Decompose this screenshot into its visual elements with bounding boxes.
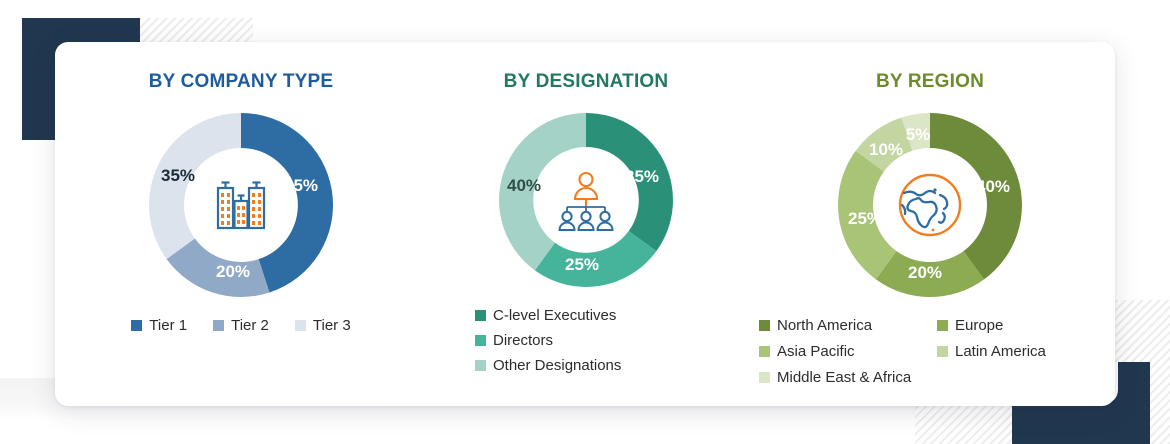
donut-label-middle-east-africa: 5%: [906, 125, 931, 144]
legend-item-directors[interactable]: Directors: [475, 332, 621, 349]
chart-panel-region: BY REGION 40% 20% 25%: [745, 42, 1115, 406]
charts-card: BY COMPANY TYPE 45% 20% 35%: [55, 42, 1115, 406]
chart-title-company-type: BY COMPANY TYPE: [149, 71, 334, 93]
org-hierarchy-people-icon: [554, 169, 618, 231]
office-buildings-icon: [210, 174, 272, 236]
legend-label-c-level: C-level Executives: [493, 307, 616, 324]
legend-item-tier-3[interactable]: Tier 3: [295, 317, 351, 334]
legend-label-middle-east-africa: Middle East & Africa: [777, 369, 911, 386]
donut-label-europe: 20%: [908, 263, 942, 282]
chart-title-region: BY REGION: [876, 71, 984, 93]
donut-chart-region: 40% 20% 25% 10% 5%: [830, 105, 1030, 305]
legend-item-tier-2[interactable]: Tier 2: [213, 317, 269, 334]
legend-swatch-europe: [937, 320, 948, 331]
donut-label-directors: 25%: [565, 255, 599, 274]
donut-label-tier-1: 45%: [284, 176, 318, 195]
legend-item-other-designations[interactable]: Other Designations: [475, 357, 621, 374]
donut-label-north-america: 40%: [976, 177, 1010, 196]
legend-swatch-tier-1: [131, 320, 142, 331]
legend-item-middle-east-africa[interactable]: Middle East & Africa: [759, 369, 937, 386]
legend-item-europe[interactable]: Europe: [937, 317, 1115, 334]
donut-label-asia-pacific: 25%: [848, 209, 882, 228]
legend-swatch-tier-2: [213, 320, 224, 331]
legend-label-europe: Europe: [955, 317, 1003, 334]
legend-label-tier-3: Tier 3: [313, 317, 351, 334]
donut-chart-designation: 35% 25% 40%: [491, 105, 681, 295]
legend-label-asia-pacific: Asia Pacific: [777, 343, 855, 360]
donut-label-tier-2: 20%: [216, 262, 250, 281]
legend-label-north-america: North America: [777, 317, 872, 334]
legend-region: North America Europe Asia Pacific Latin …: [759, 317, 1115, 386]
donut-label-latin-america: 10%: [869, 140, 903, 159]
legend-label-tier-1: Tier 1: [149, 317, 187, 334]
legend-swatch-c-level: [475, 310, 486, 321]
legend-swatch-asia-pacific: [759, 346, 770, 357]
legend-label-latin-america: Latin America: [955, 343, 1046, 360]
legend-swatch-other-designations: [475, 360, 486, 371]
globe-icon: [892, 167, 968, 243]
donut-label-tier-3: 35%: [161, 166, 195, 185]
legend-item-asia-pacific[interactable]: Asia Pacific: [759, 343, 937, 360]
legend-swatch-latin-america: [937, 346, 948, 357]
legend-company-type: Tier 1 Tier 2 Tier 3: [131, 317, 350, 334]
chart-panel-company-type: BY COMPANY TYPE 45% 20% 35%: [55, 42, 427, 406]
legend-swatch-directors: [475, 335, 486, 346]
legend-label-other-designations: Other Designations: [493, 357, 621, 374]
legend-item-c-level[interactable]: C-level Executives: [475, 307, 621, 324]
donut-label-other-designations: 40%: [507, 176, 541, 195]
legend-item-tier-1[interactable]: Tier 1: [131, 317, 187, 334]
legend-swatch-middle-east-africa: [759, 372, 770, 383]
legend-swatch-tier-3: [295, 320, 306, 331]
legend-swatch-north-america: [759, 320, 770, 331]
legend-label-tier-2: Tier 2: [231, 317, 269, 334]
decor-navy-foot-bottom-right: [1012, 402, 1150, 444]
donut-chart-company-type: 45% 20% 35%: [141, 105, 341, 305]
donut-label-c-level: 35%: [625, 167, 659, 186]
legend-item-north-america[interactable]: North America: [759, 317, 937, 334]
legend-designation: C-level Executives Directors Other Desig…: [475, 307, 621, 374]
chart-panel-designation: BY DESIGNATION 35% 25% 40%: [427, 42, 745, 406]
chart-title-designation: BY DESIGNATION: [504, 71, 669, 93]
legend-label-directors: Directors: [493, 332, 553, 349]
legend-item-latin-america[interactable]: Latin America: [937, 343, 1115, 360]
